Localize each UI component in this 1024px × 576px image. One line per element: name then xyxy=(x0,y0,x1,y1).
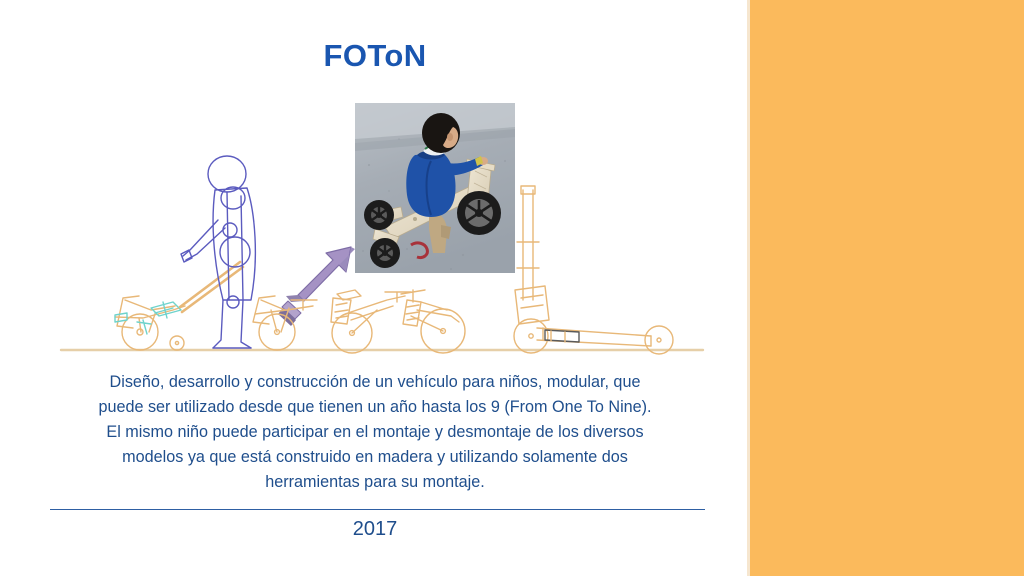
horizontal-divider xyxy=(50,509,705,510)
page-title: FOToN xyxy=(0,38,750,74)
description-line-5: herramientas para su montaje. xyxy=(26,470,724,495)
slide-canvas: FOToN xyxy=(0,0,1024,576)
bicycle-sketch xyxy=(401,290,465,353)
description-text: Diseño, desarrollo y construcción de un … xyxy=(26,370,724,495)
description-line-3: El mismo niño puede participar en el mon… xyxy=(26,420,724,445)
description-line-2: puede ser utilizado desde que tienen un … xyxy=(26,395,724,420)
orange-side-panel xyxy=(750,0,1024,576)
tricycle-sketch xyxy=(331,290,411,353)
adult-pushing-trike-sketch xyxy=(115,262,243,350)
scooter-sketch xyxy=(514,186,673,354)
year-label: 2017 xyxy=(0,518,750,541)
standing-person-sketch xyxy=(181,156,255,348)
description-line-4: modelos ya que está construido en madera… xyxy=(26,445,724,470)
description-line-1: Diseño, desarrollo y construcción de un … xyxy=(26,370,724,395)
child-riding-wooden-balance-bike-photo xyxy=(355,103,515,273)
